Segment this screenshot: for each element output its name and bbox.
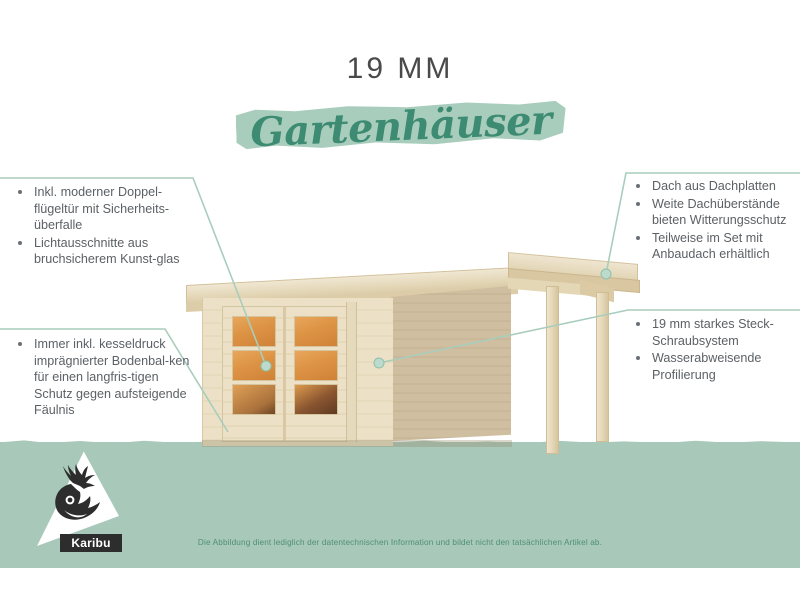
door-glass-pane [232,350,276,381]
garden-house-illustration [178,252,628,452]
feature-list-top-left: Inkl. moderner Doppel-flügeltür mit Sich… [14,184,194,269]
floor-shadow [202,440,512,447]
list-item: Wasserabweisende Profilierung [632,350,800,383]
door-side-trim [346,302,357,442]
product-infographic: 19 MM Gartenhäuser [0,0,800,600]
list-item: Teilweise im Set mit Anbaudach erhältlic… [632,230,800,263]
feature-list-bottom-left: Immer inkl. kesseldruck imprägnierter Bo… [14,336,199,420]
canopy-post-back [596,292,609,442]
door-glass-pane [232,316,276,347]
list-item: Dach aus Dachplatten [632,178,800,195]
feature-list-top-right: Dach aus Dachplatten Weite Dachüberständ… [632,178,800,264]
door-glass-pane [294,384,338,415]
disclaimer-text: Die Abbildung dient lediglich der datent… [0,538,800,547]
side-wall [391,286,511,441]
list-item: Weite Dachüberstände bieten Witterungssc… [632,196,800,229]
list-item: Inkl. moderner Doppel-flügeltür mit Sich… [14,184,194,234]
page-kicker: 19 MM [0,52,800,86]
list-item: Immer inkl. kesseldruck imprägnierter Bo… [14,336,199,419]
door-right [284,306,348,442]
list-item: 19 mm starkes Steck-Schraubsystem [632,316,800,349]
door-glass-pane [294,350,338,381]
list-item: Lichtausschnitte aus bruchsicherem Kunst… [14,235,194,268]
door-glass-pane [232,384,276,415]
page-title: Gartenhäuser [236,95,566,157]
feature-list-bottom-right: 19 mm starkes Steck-Schraubsystem Wasser… [632,316,800,384]
door-glass-pane [294,316,338,347]
door-left [222,306,286,442]
door-center-seam [283,306,286,440]
page-title-text: Gartenhäuser [235,88,567,164]
deer-head-icon [40,464,110,530]
canopy-post-front [546,286,559,454]
